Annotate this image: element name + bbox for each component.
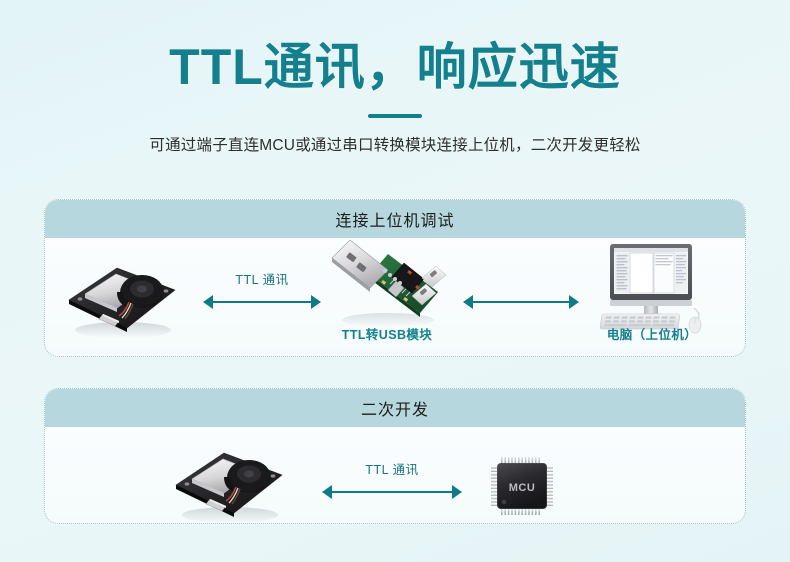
arrow-sensor-to-mcu xyxy=(322,481,462,503)
sensor-module-image xyxy=(63,254,181,340)
panel-header-connect-host: 连接上位机调试 xyxy=(45,200,745,238)
arrow-shaft xyxy=(329,491,455,493)
panel-body-connect-host: TTL 通讯 xyxy=(45,238,745,356)
ttl-usb-module-image xyxy=(326,240,448,324)
svg-text:MCU: MCU xyxy=(509,482,536,494)
computer-image xyxy=(596,242,708,334)
arrow-head-right-icon xyxy=(569,295,579,309)
panel-header-label: 连接上位机调试 xyxy=(335,207,454,231)
arrow-usb-to-computer xyxy=(463,291,579,313)
caption-ttl-usb-module: TTL转USB模块 xyxy=(326,324,448,343)
caption-computer: 电脑（上位机） xyxy=(586,324,718,343)
hero-section: TTL通讯，响应迅速 可通过端子直连MCU或通过串口转换模块连接上位机，二次开发… xyxy=(0,0,790,155)
title-divider xyxy=(368,114,422,118)
arrow-shaft xyxy=(470,301,572,303)
panel-secondary-development: 二次开发 xyxy=(44,388,746,524)
panel-connect-host: 连接上位机调试 xyxy=(44,199,746,357)
arrow-shaft xyxy=(210,301,314,303)
page-title: TTL通讯，响应迅速 xyxy=(0,38,790,97)
arrow-label-ttl-2: TTL 通讯 xyxy=(322,459,462,478)
mcu-chip-image: MCU xyxy=(489,455,555,517)
arrow-head-right-icon xyxy=(452,485,462,499)
sensor-module-image xyxy=(170,439,288,524)
arrow-label-ttl-1: TTL 通讯 xyxy=(203,269,321,288)
arrow-sensor-to-usb xyxy=(203,291,321,313)
panel-body-secondary-development: TTL 通讯 xyxy=(45,427,745,523)
panel-header-label: 二次开发 xyxy=(361,396,429,420)
panel-header-secondary-development: 二次开发 xyxy=(45,389,745,427)
page-subtitle: 可通过端子直连MCU或通过串口转换模块连接上位机，二次开发更轻松 xyxy=(0,133,790,155)
arrow-head-right-icon xyxy=(311,295,321,309)
